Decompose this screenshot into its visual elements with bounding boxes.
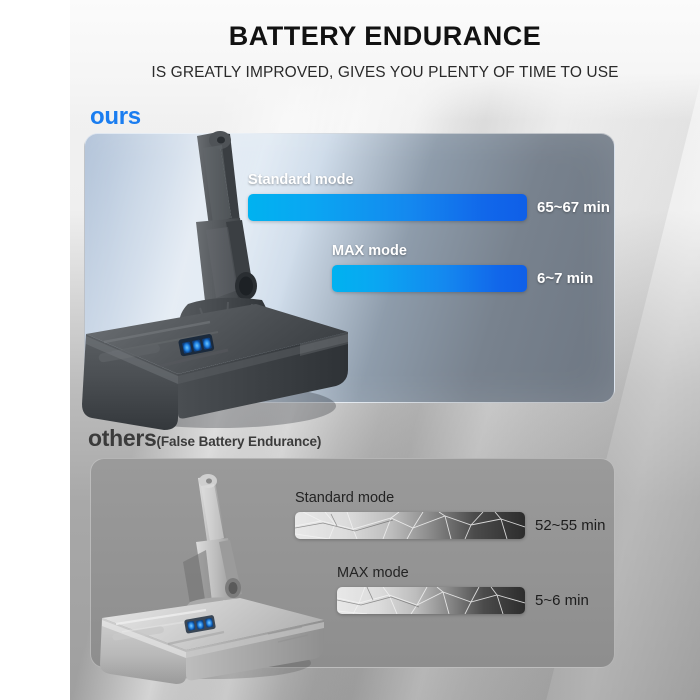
section-label-others-wrap: others (False Battery Endurance) xyxy=(88,425,321,452)
page-subtitle: IS GREATLY IMPROVED, GIVES YOU PLENTY OF… xyxy=(70,64,700,82)
section-label-others: others xyxy=(88,425,157,452)
bar-fill-blue xyxy=(248,194,527,221)
bar-label: MAX mode xyxy=(332,243,593,259)
bar-row-ours-standard: Standard mode 65~67 min xyxy=(248,172,610,221)
product-marketing-image: BATTERY ENDURANCE IS GREATLY IMPROVED, G… xyxy=(0,0,700,700)
bar-label: Standard mode xyxy=(295,490,605,506)
bar-row-ours-max: MAX mode 6~7 min xyxy=(332,243,593,292)
bar-label: MAX mode xyxy=(337,565,589,581)
bar-fill-cracked xyxy=(295,512,525,539)
bar-row-others-max: MAX mode xyxy=(337,565,589,614)
bar-value: 52~55 min xyxy=(535,517,605,534)
bar-value: 6~7 min xyxy=(537,270,593,287)
section-label-others-note: (False Battery Endurance) xyxy=(157,434,322,449)
bar-row-others-standard: Standard mode xyxy=(295,490,605,539)
bar-value: 65~67 min xyxy=(537,199,610,216)
header-block: BATTERY ENDURANCE IS GREATLY IMPROVED, G… xyxy=(70,22,700,82)
section-label-ours: ours xyxy=(90,103,141,131)
page-title: BATTERY ENDURANCE xyxy=(70,22,700,52)
bar-label: Standard mode xyxy=(248,172,610,188)
bar-value: 5~6 min xyxy=(535,592,589,609)
bar-fill-blue xyxy=(332,265,527,292)
bar-fill-cracked xyxy=(337,587,525,614)
